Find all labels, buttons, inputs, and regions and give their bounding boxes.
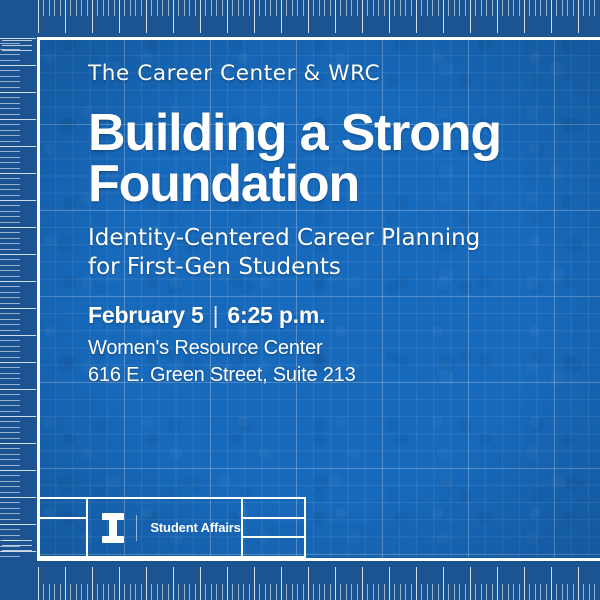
event-datetime: February 5|6:25 p.m. bbox=[88, 302, 560, 329]
logo-divider bbox=[136, 515, 137, 541]
title-block-column-left bbox=[40, 499, 88, 556]
event-venue: Women's Resource Center bbox=[88, 335, 560, 362]
ruler-bottom bbox=[38, 562, 600, 600]
subtitle-line-1: Identity-Centered Career Planning bbox=[88, 225, 480, 251]
presenter-line: The Career Center & WRC bbox=[88, 62, 560, 86]
event-address: 616 E. Green Street, Suite 213 bbox=[88, 362, 560, 389]
corner-mark-top-left bbox=[2, 40, 32, 56]
ruler-left bbox=[0, 38, 37, 560]
ruler-top bbox=[38, 0, 600, 37]
subtitle: Identity-Centered Career Planning for Fi… bbox=[88, 224, 538, 283]
subtitle-line-2: for First-Gen Students bbox=[88, 254, 341, 280]
corner-mark-bottom-left bbox=[2, 540, 32, 556]
page-title: Building a Strong Foundation bbox=[88, 108, 558, 210]
title-block-cell bbox=[243, 536, 304, 556]
logo-lockup: Student Affairs bbox=[88, 499, 242, 556]
title-block-cell bbox=[243, 517, 304, 537]
poster-content: The Career Center & WRC Building a Stron… bbox=[88, 62, 560, 389]
block-i-icon bbox=[102, 513, 124, 543]
blueprint-poster: The Career Center & WRC Building a Stron… bbox=[0, 0, 600, 600]
event-date: February 5 bbox=[88, 302, 204, 328]
event-time: 6:25 p.m. bbox=[227, 302, 325, 328]
frame-border-bottom bbox=[38, 558, 600, 561]
title-block-column-right bbox=[243, 499, 304, 556]
logo-wordmark: Student Affairs bbox=[150, 520, 240, 535]
title-block-cell bbox=[40, 499, 86, 517]
title-block: Student Affairs bbox=[38, 497, 306, 558]
title-block-cell bbox=[243, 499, 304, 517]
datetime-separator: | bbox=[204, 302, 228, 329]
frame-border-left bbox=[37, 37, 40, 561]
title-block-cell bbox=[40, 517, 86, 556]
frame-border-top bbox=[38, 37, 600, 40]
